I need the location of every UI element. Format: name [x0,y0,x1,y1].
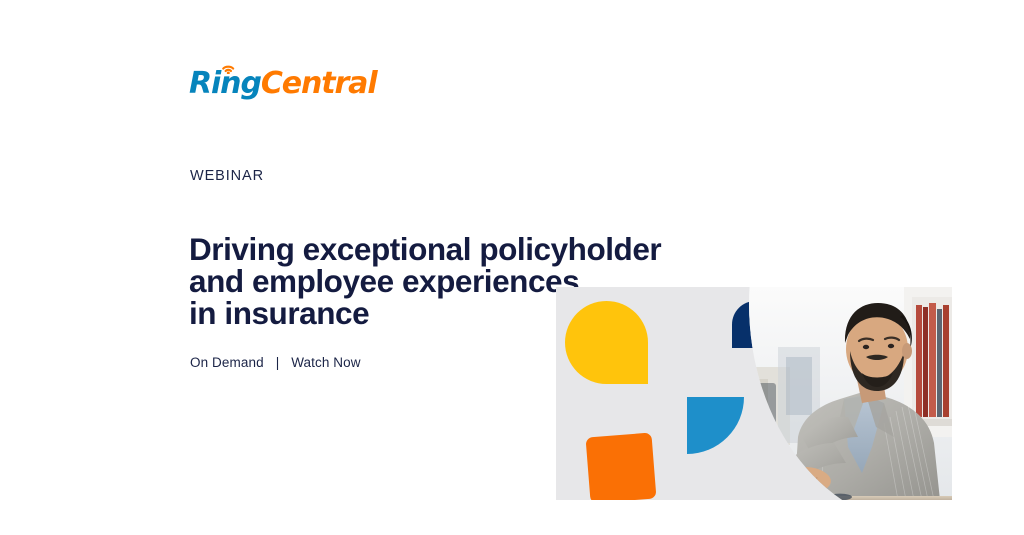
hero-photo [716,287,952,500]
logo-central-text: Central [261,66,377,101]
media-panel [556,287,952,500]
headline-line-1: Driving exceptional policyholder [189,233,709,265]
wifi-signal-icon [221,61,237,74]
photo-frame [716,287,952,500]
availability-label: On Demand [190,356,264,370]
logo-wordmark: RingCentral [189,69,377,99]
cta-row: On Demand | Watch Now [190,356,361,370]
watch-now-link[interactable]: Watch Now [291,356,360,370]
photo-arch-mask [716,287,952,500]
webinar-promo-banner: RingCentral WEBINAR Driving exceptional … [0,0,1024,535]
ringcentral-logo[interactable]: RingCentral [189,65,377,99]
cta-separator: | [264,356,292,370]
rounded-square-orange-shape [586,433,657,500]
teardrop-yellow-shape [565,301,648,384]
eyebrow-label: WEBINAR [190,169,264,184]
photo-alt-text: Man in grey blazer working on a laptop i… [0,0,1,1]
